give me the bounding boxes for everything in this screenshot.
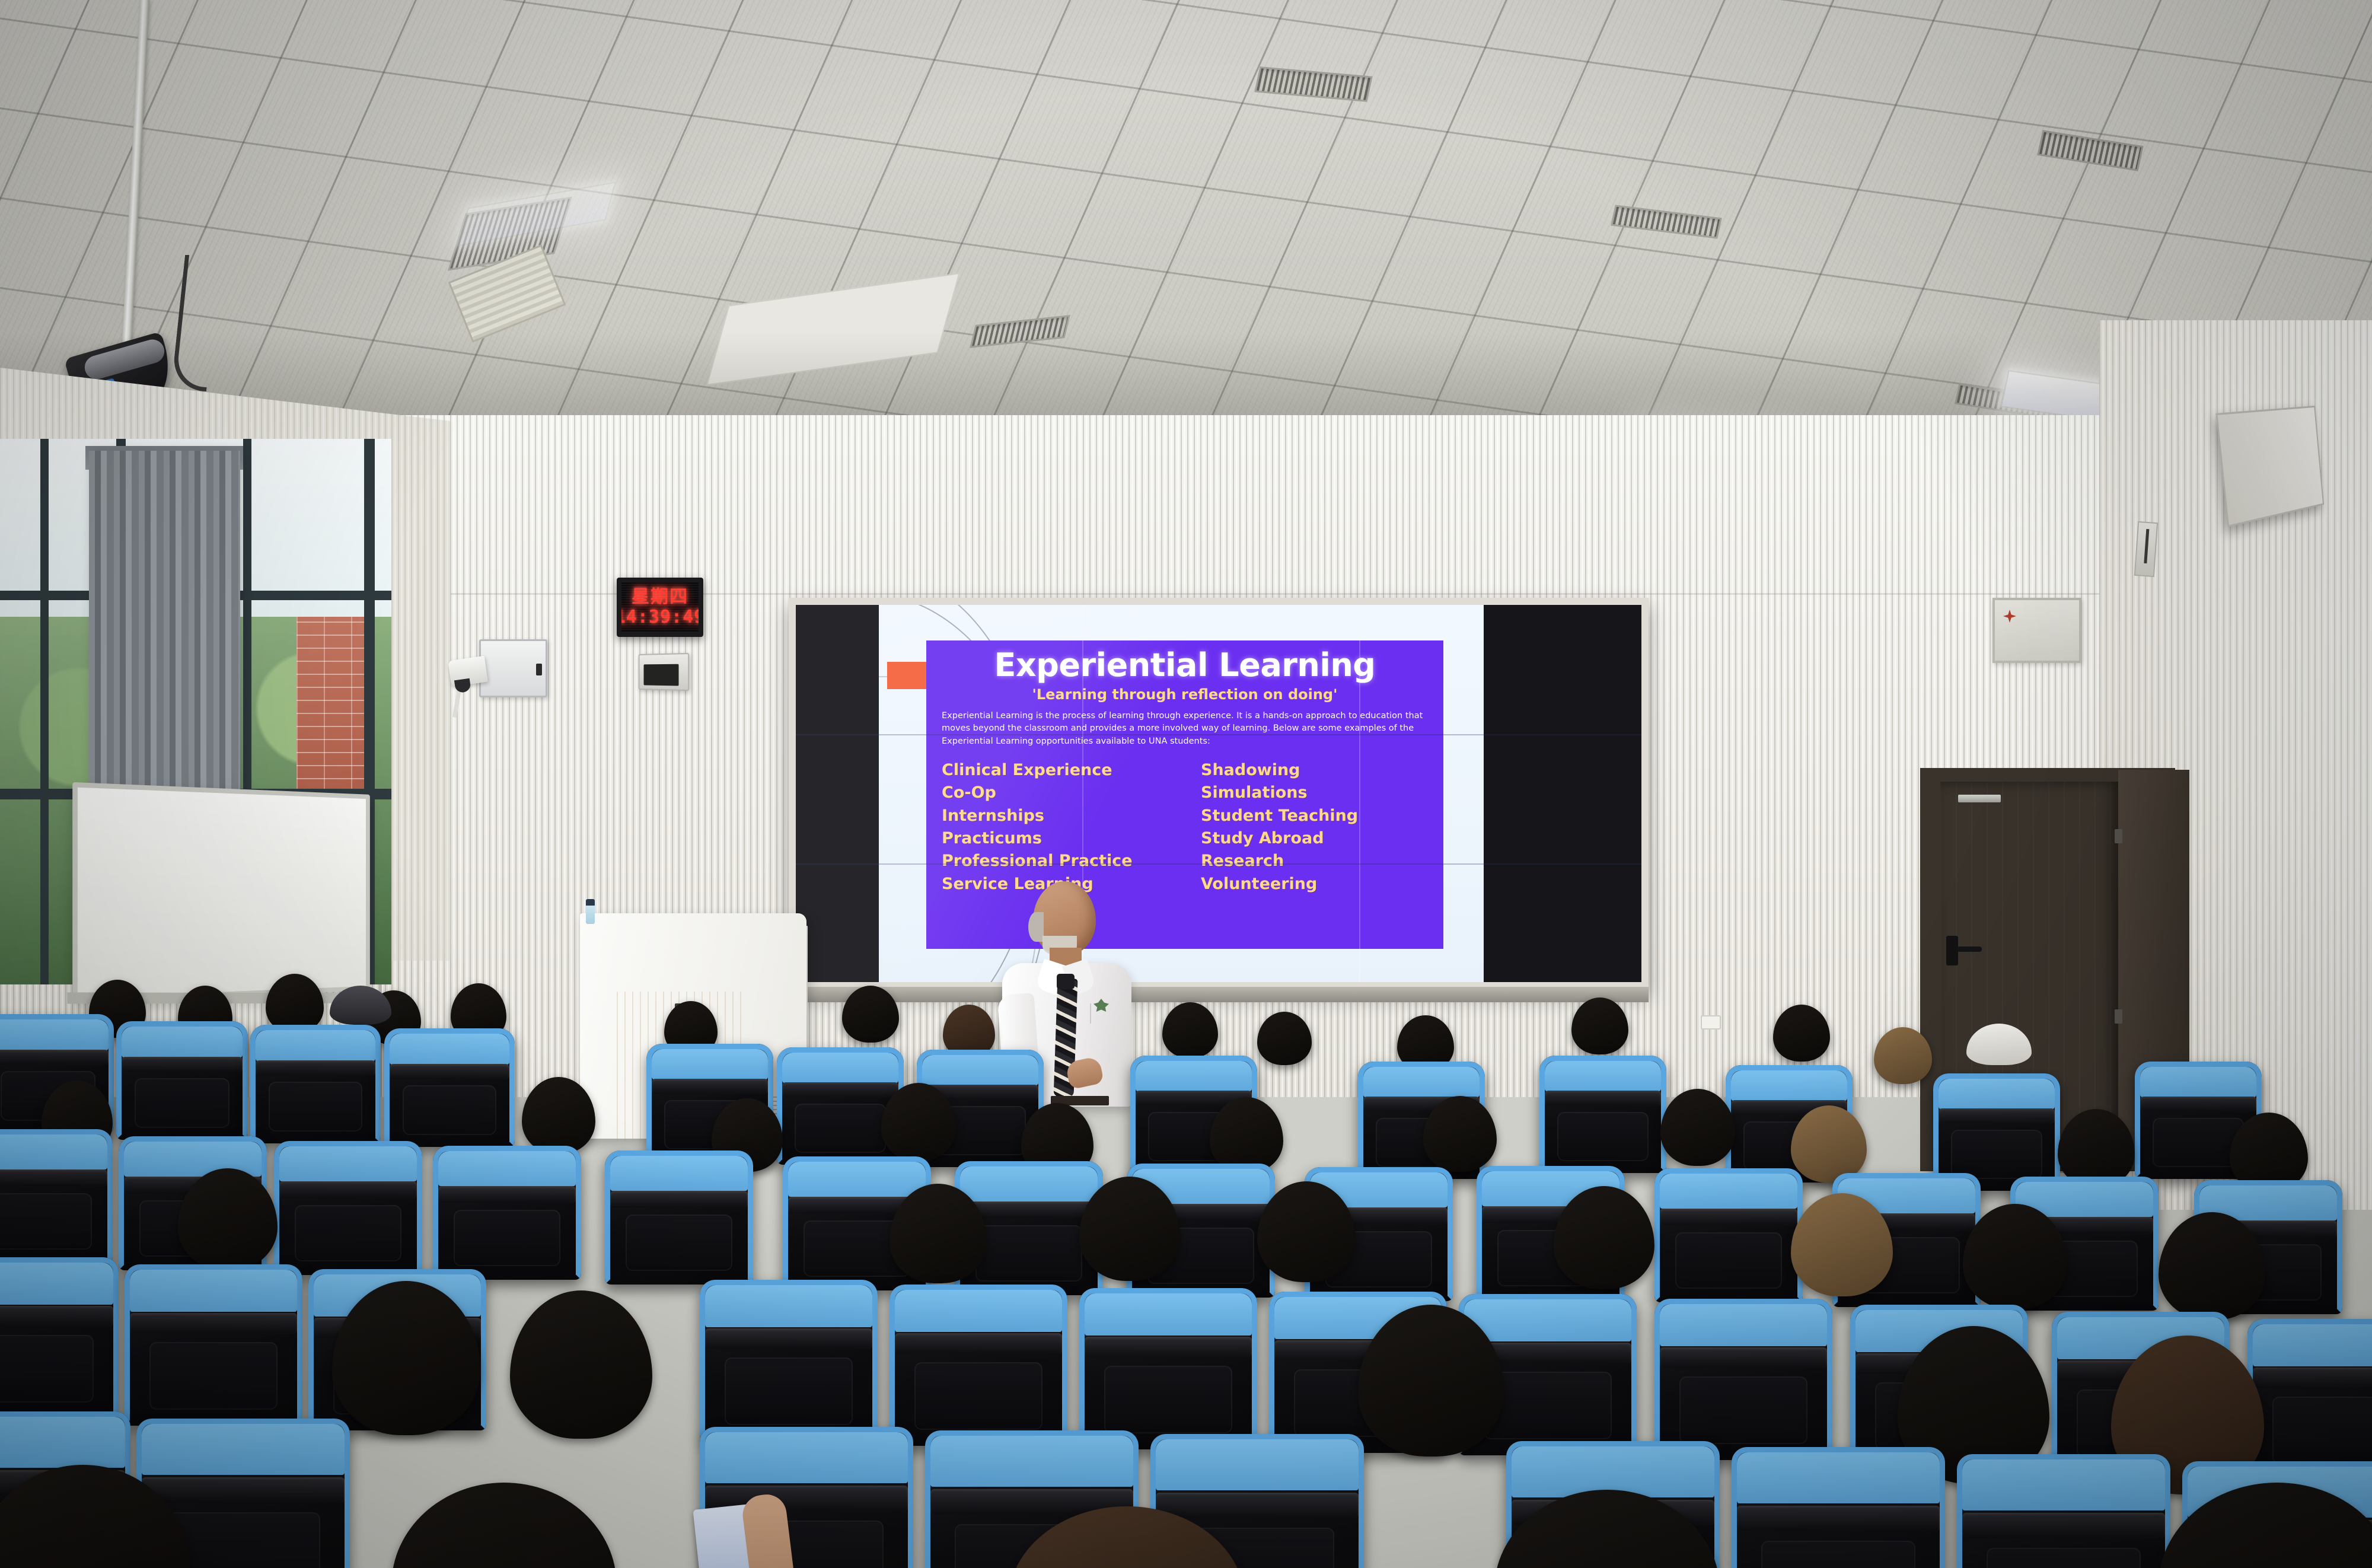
seat-headrest bbox=[1363, 1067, 1480, 1097]
seat-headrest bbox=[130, 1270, 297, 1312]
seat-back-panel bbox=[1104, 1366, 1232, 1433]
student-head bbox=[1773, 1005, 1830, 1062]
seat-back-bar bbox=[1737, 1506, 1940, 1531]
led-video-wall[interactable]: Experiential Learning 'Learning through … bbox=[789, 598, 1649, 989]
led-clock-weekday: 星期四 bbox=[632, 588, 688, 606]
seat-back-bar bbox=[279, 1181, 417, 1199]
seat-back-panel bbox=[1557, 1112, 1649, 1161]
wall-camera bbox=[448, 656, 488, 687]
seat-headrest bbox=[2140, 1067, 2256, 1097]
whiteboard bbox=[72, 782, 370, 1003]
seat-headrest bbox=[438, 1151, 576, 1186]
seat-back-bar bbox=[782, 1082, 898, 1098]
seat-back-panel bbox=[725, 1357, 853, 1425]
lecture-hall-photo: 星期四 14:39:49 Experiential Learning 'Lear… bbox=[0, 0, 2372, 1568]
auditorium-seat[interactable] bbox=[384, 1028, 515, 1147]
slide-list-item: Research bbox=[1201, 850, 1428, 872]
seat-headrest bbox=[2253, 1324, 2372, 1366]
seat-headrest bbox=[1962, 1459, 2165, 1510]
seat-back-bar bbox=[1085, 1337, 1252, 1357]
wall-speaker bbox=[639, 653, 689, 691]
auditorium-seat[interactable] bbox=[1654, 1168, 1803, 1302]
water-bottle-cap bbox=[586, 899, 595, 906]
student-head bbox=[391, 1483, 617, 1568]
suspended-ceiling bbox=[0, 0, 2372, 451]
seat-back-panel bbox=[135, 1078, 229, 1128]
student-head bbox=[1874, 1027, 1932, 1084]
auditorium-seat[interactable] bbox=[1957, 1454, 2170, 1568]
auditorium-seat[interactable] bbox=[700, 1280, 878, 1441]
student-head bbox=[1210, 1097, 1283, 1173]
student-head bbox=[1423, 1096, 1497, 1172]
seat-back-bar bbox=[705, 1328, 872, 1349]
seat-headrest bbox=[142, 1424, 345, 1475]
seat-headrest bbox=[1737, 1452, 1940, 1503]
seat-back-panel bbox=[975, 1225, 1082, 1282]
seat-back-panel bbox=[2272, 1397, 2372, 1464]
student-head bbox=[842, 986, 899, 1043]
auditorium-seat[interactable] bbox=[605, 1150, 753, 1285]
wall-equipment-box bbox=[479, 639, 547, 697]
seat-headrest bbox=[1156, 1439, 1359, 1490]
slide-body-text: Experiential Learning is the process of … bbox=[942, 710, 1428, 748]
presenter-hair bbox=[1028, 912, 1044, 942]
seat-back-panel bbox=[454, 1210, 560, 1266]
slide-list-item: Professional Practice bbox=[942, 850, 1169, 872]
seat-back-panel bbox=[1987, 1548, 2140, 1568]
auditorium-seat[interactable] bbox=[0, 1257, 119, 1419]
seat-headrest bbox=[705, 1285, 872, 1327]
slide-list-item: Volunteering bbox=[1201, 873, 1428, 895]
seat-back-bar bbox=[390, 1064, 509, 1079]
seat-back-bar bbox=[142, 1477, 345, 1503]
seat-headrest bbox=[1085, 1293, 1252, 1336]
seat-back-panel bbox=[403, 1085, 496, 1135]
slide-list-item: Co-Op bbox=[942, 782, 1169, 804]
seat-headrest bbox=[1660, 1174, 1797, 1209]
wall-sensor-device bbox=[2134, 521, 2158, 577]
student-cap bbox=[330, 986, 391, 1025]
seat-back-bar bbox=[652, 1079, 768, 1094]
audience-seating bbox=[0, 973, 2372, 1568]
seat-back-bar bbox=[256, 1060, 375, 1076]
auditorium-seat[interactable] bbox=[1079, 1288, 1257, 1449]
seat-back-bar bbox=[130, 1313, 297, 1334]
seat-back-bar bbox=[1660, 1209, 1797, 1226]
seat-headrest bbox=[782, 1053, 898, 1083]
auditorium-seat[interactable] bbox=[116, 1021, 248, 1140]
seat-back-panel bbox=[1951, 1130, 2042, 1179]
auditorium-seat[interactable] bbox=[889, 1285, 1067, 1446]
seat-back-panel bbox=[914, 1362, 1042, 1430]
student-head bbox=[1257, 1012, 1312, 1065]
auditorium-seat[interactable] bbox=[0, 1129, 113, 1263]
seat-back-bar bbox=[438, 1186, 576, 1203]
seat-back-bar bbox=[1545, 1091, 1661, 1106]
seat-back-bar bbox=[2253, 1368, 2372, 1388]
student-head bbox=[510, 1290, 652, 1439]
slide-list-item: Simulations bbox=[1201, 782, 1428, 804]
led-clock-time: 14:39:49 bbox=[617, 608, 703, 626]
seat-back-bar bbox=[1156, 1493, 1359, 1518]
auditorium-seat[interactable] bbox=[125, 1264, 302, 1426]
auditorium-seat[interactable] bbox=[1539, 1056, 1666, 1173]
student-head bbox=[2058, 1109, 2135, 1187]
seat-headrest bbox=[0, 1417, 125, 1468]
slide-list-item: Practicums bbox=[942, 827, 1169, 850]
seat-back-panel bbox=[0, 1193, 92, 1250]
seat-back-panel bbox=[269, 1082, 362, 1132]
seat-headrest bbox=[390, 1034, 509, 1065]
seat-back-bar bbox=[0, 1306, 113, 1327]
auditorium-seat[interactable] bbox=[1654, 1299, 1832, 1460]
seat-headrest bbox=[652, 1049, 768, 1079]
seat-headrest bbox=[788, 1162, 926, 1197]
seat-back-bar bbox=[0, 1169, 107, 1187]
seat-headrest bbox=[1545, 1061, 1661, 1091]
slide-subtitle: 'Learning through reflection on doing' bbox=[942, 686, 1428, 703]
seat-back-bar bbox=[122, 1057, 243, 1072]
slide-column-left: Clinical Experience Co-Op Internships Pr… bbox=[942, 759, 1169, 895]
student-head bbox=[266, 974, 324, 1033]
slide-columns: Clinical Experience Co-Op Internships Pr… bbox=[942, 759, 1428, 895]
seat-back-panel bbox=[795, 1104, 886, 1153]
seat-back-panel bbox=[626, 1215, 732, 1271]
seat-back-panel bbox=[0, 1335, 94, 1403]
seat-headrest bbox=[895, 1290, 1062, 1332]
utility-panel-logo-icon bbox=[2003, 610, 2016, 623]
seat-headrest bbox=[1464, 1299, 1631, 1341]
auditorium-seat[interactable] bbox=[1732, 1447, 1945, 1568]
seat-headrest bbox=[1660, 1304, 1827, 1346]
seat-back-bar bbox=[1962, 1513, 2165, 1538]
slide-list-item: Student Teaching bbox=[1201, 805, 1428, 827]
seat-headrest bbox=[960, 1167, 1098, 1202]
auditorium-seat[interactable] bbox=[433, 1146, 581, 1280]
auditorium-seat[interactable] bbox=[274, 1141, 422, 1275]
presentation-slide: Experiential Learning 'Learning through … bbox=[879, 605, 1484, 982]
student-cap bbox=[1966, 1024, 2032, 1065]
seat-back-bar bbox=[1660, 1347, 1827, 1368]
seat-headrest bbox=[1731, 1070, 1847, 1101]
seat-headrest bbox=[705, 1432, 908, 1483]
slide-list-item: Shadowing bbox=[1201, 759, 1428, 782]
seat-headrest bbox=[922, 1055, 1038, 1085]
seat-headrest bbox=[0, 1134, 107, 1169]
seat-back-panel bbox=[149, 1342, 278, 1410]
seat-headrest bbox=[930, 1436, 1133, 1487]
seat-headrest bbox=[0, 1019, 109, 1050]
door-closer-plate bbox=[1958, 795, 2001, 802]
seat-back-panel bbox=[1761, 1541, 1915, 1568]
seat-back-bar bbox=[0, 1050, 109, 1065]
water-bottle[interactable] bbox=[586, 904, 595, 924]
slide-title: Experiential Learning bbox=[942, 649, 1428, 683]
slide-list-item: Clinical Experience bbox=[942, 759, 1169, 782]
slide-list-item: Internships bbox=[942, 805, 1169, 827]
auditorium-seat[interactable] bbox=[250, 1025, 381, 1143]
slide-column-right: Shadowing Simulations Student Teaching S… bbox=[1169, 759, 1428, 895]
seat-back-bar bbox=[610, 1191, 748, 1208]
student-head bbox=[1571, 997, 1628, 1054]
seat-back-panel bbox=[295, 1205, 401, 1261]
door-hinge bbox=[2115, 829, 2122, 843]
seat-headrest bbox=[610, 1156, 748, 1191]
seat-headrest bbox=[0, 1263, 113, 1305]
seat-headrest bbox=[1939, 1079, 2055, 1109]
student-head bbox=[1791, 1105, 1867, 1183]
wall-utility-panel bbox=[1992, 598, 2081, 663]
student-head bbox=[1162, 1002, 1218, 1058]
seat-back-bar bbox=[1939, 1108, 2055, 1124]
auditorium-seat[interactable] bbox=[2247, 1319, 2372, 1480]
student-head bbox=[1660, 1089, 1735, 1166]
seat-back-bar bbox=[2140, 1097, 2256, 1112]
wall-led-clock: 星期四 14:39:49 bbox=[617, 578, 703, 637]
auditorium-seat[interactable] bbox=[777, 1047, 904, 1165]
video-wall-surface: Experiential Learning 'Learning through … bbox=[796, 605, 1641, 982]
window-mullion bbox=[40, 439, 49, 984]
slide-list-item: Study Abroad bbox=[1201, 827, 1428, 850]
seat-back-panel bbox=[1675, 1232, 1782, 1289]
seat-headrest bbox=[1136, 1061, 1252, 1091]
seat-headrest bbox=[256, 1030, 375, 1061]
seat-headrest bbox=[279, 1146, 417, 1181]
door-handle[interactable] bbox=[1946, 936, 1958, 965]
seat-back-panel bbox=[1679, 1376, 1807, 1444]
seat-headrest bbox=[122, 1027, 243, 1057]
student-head bbox=[522, 1077, 595, 1154]
seat-back-bar bbox=[895, 1333, 1062, 1354]
